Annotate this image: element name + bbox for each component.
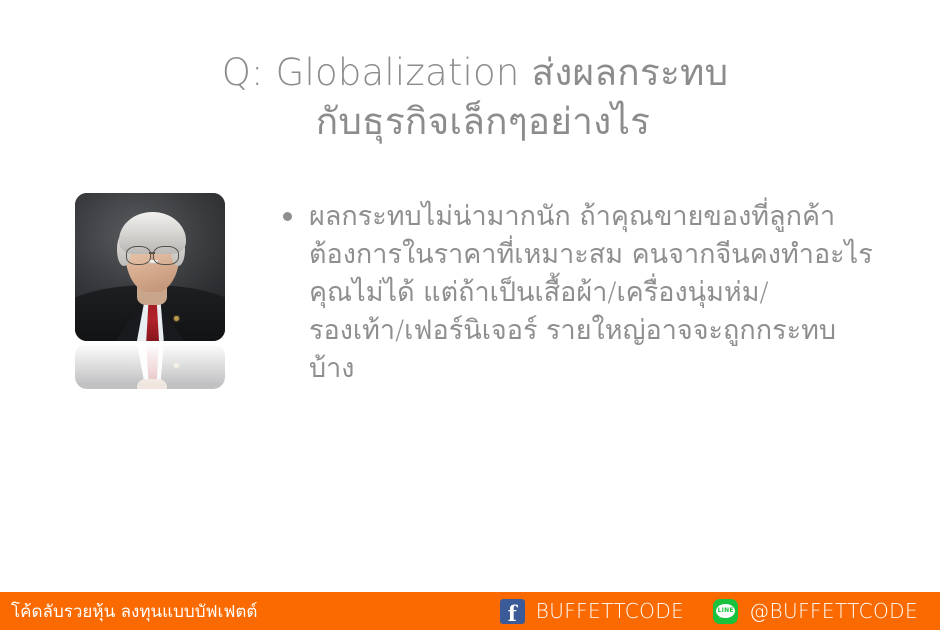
facebook-icon[interactable]: f [500,599,525,624]
body-text: ผลกระทบไม่น่ามากนัก ถ้าคุณขายของที่ลูกค้… [309,198,908,388]
portrait-reflection [75,343,225,389]
footer-bar: โค้ดลับรวยหุ้น ลงทุนแบบบัฟเฟตต์ f BUFFET… [0,592,940,630]
title-line-2: กับธุรกิจเล็กๆอย่างไร [120,97,830,146]
portrait-lapel-pin [174,316,179,321]
line-glyph: LINE [713,606,738,615]
line-handle: @BUFFETTCODE [749,599,918,623]
footer-socials: f BUFFETTCODE LINE @BUFFETTCODE [500,599,918,624]
portrait-photo [75,193,225,341]
body-bullet-item: ผลกระทบไม่น่ามากนัก ถ้าคุณขายของที่ลูกค้… [283,198,908,388]
portrait-reflection-copy [75,343,225,389]
slide-canvas: Q: Globalization ส่งผลกระทบ กับธุรกิจเล็… [0,0,940,630]
body-line-3: คุณไม่ได้ แต่ถ้าเป็นเสื้อผ้า/เครื่องนุ่ม… [309,274,908,312]
facebook-handle: BUFFETTCODE [536,599,684,623]
portrait-frame [75,193,225,341]
glasses-icon [126,246,179,262]
body-line-5: บ้าง [309,350,908,388]
title-line-1: Q: Globalization ส่งผลกระทบ [120,48,830,97]
social-facebook[interactable]: f BUFFETTCODE [500,599,684,624]
body-line-2: ต้องการในราคาที่เหมาะสม คนจากจีนคงทำอะไร [309,236,908,274]
facebook-glyph: f [500,601,525,626]
glasses-lens-left [126,246,151,264]
slide-title: Q: Globalization ส่งผลกระทบ กับธุรกิจเล็… [120,48,830,146]
bullet-icon [283,212,292,221]
footer-brand-text: โค้ดลับรวยหุ้น ลงทุนแบบบัฟเฟตต์ [11,598,257,625]
social-line[interactable]: LINE @BUFFETTCODE [713,599,918,624]
line-icon[interactable]: LINE [713,599,738,624]
body-line-4: รองเท้า/เฟอร์นิเจอร์ รายใหญ่อาจจะถูกกระท… [309,312,908,350]
glasses-lens-right [153,246,178,264]
glasses-bridge [149,252,155,254]
body-line-1: ผลกระทบไม่น่ามากนัก ถ้าคุณขายของที่ลูกค้… [309,198,908,236]
